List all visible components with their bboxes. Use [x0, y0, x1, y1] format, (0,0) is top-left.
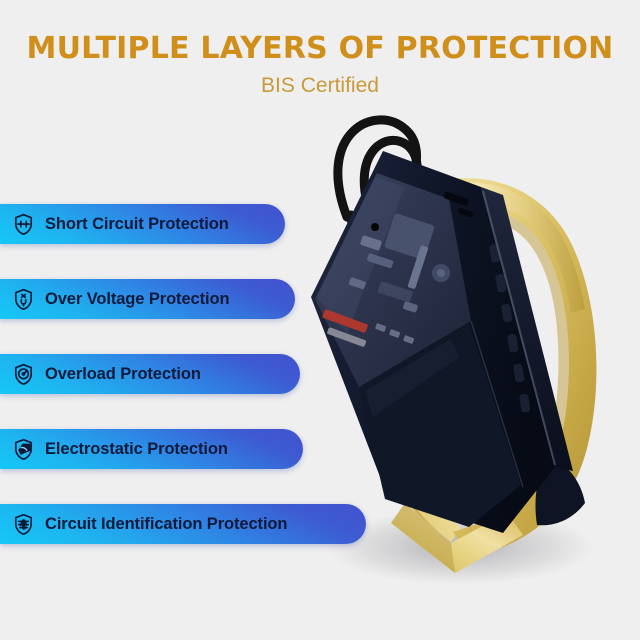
feature-list: Short Circuit Protection Over Voltage Pr… — [0, 204, 400, 544]
shield-short-circuit-icon — [10, 211, 36, 237]
shield-gauge-icon — [10, 361, 36, 387]
poster-canvas: MULTIPLE LAYERS OF PROTECTION BIS Certif… — [0, 0, 640, 640]
feature-pill-short-circuit[interactable]: Short Circuit Protection — [0, 204, 285, 244]
feature-label: Short Circuit Protection — [45, 215, 229, 234]
feature-pill-overload[interactable]: Overload Protection — [0, 354, 300, 394]
shield-circuit-board-icon — [10, 511, 36, 537]
feature-pill-over-voltage[interactable]: Over Voltage Protection — [0, 279, 295, 319]
shield-electrostatic-icon — [10, 436, 36, 462]
feature-pill-electrostatic[interactable]: Electrostatic Protection — [0, 429, 303, 469]
feature-label: Over Voltage Protection — [45, 290, 229, 309]
page-title: MULTIPLE LAYERS OF PROTECTION — [0, 0, 640, 68]
shield-over-voltage-icon — [10, 286, 36, 312]
page-subtitle: BIS Certified — [0, 68, 640, 100]
feature-label: Circuit Identification Protection — [45, 515, 287, 534]
feature-label: Electrostatic Protection — [45, 440, 228, 459]
header: MULTIPLE LAYERS OF PROTECTION BIS Certif… — [0, 0, 640, 100]
feature-label: Overload Protection — [45, 365, 201, 384]
feature-pill-circuit-identification[interactable]: Circuit Identification Protection — [0, 504, 366, 544]
